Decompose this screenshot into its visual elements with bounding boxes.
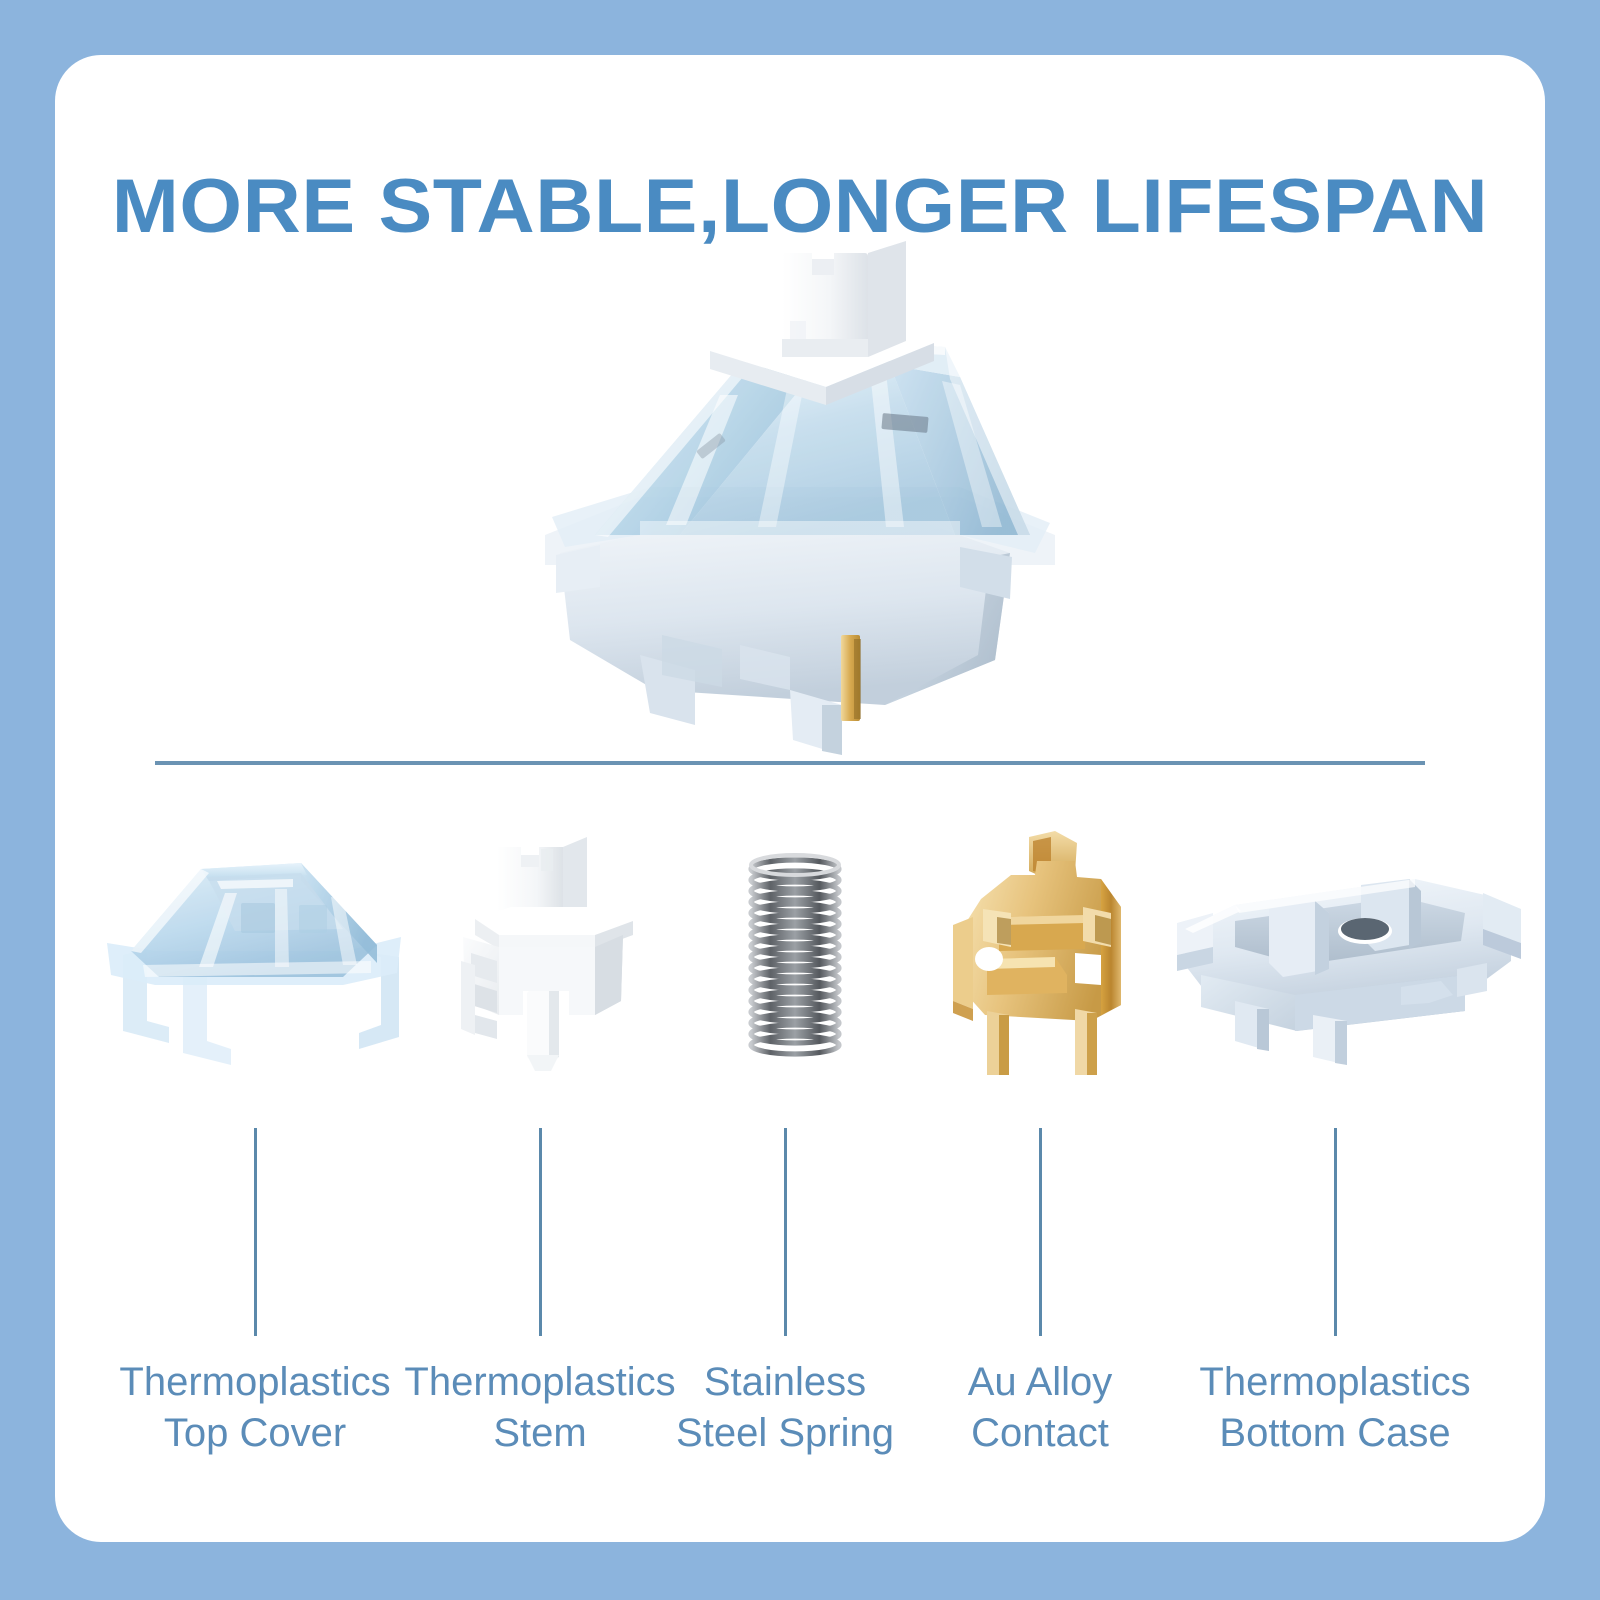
label-contact-line1: Au Alloy bbox=[968, 1360, 1113, 1404]
label-spring-line2: Steel Spring bbox=[645, 1408, 925, 1459]
label-contact-line2: Contact bbox=[905, 1408, 1175, 1459]
part-stem bbox=[435, 825, 665, 1075]
leader-line-contact bbox=[1039, 1128, 1042, 1336]
label-bottom-case: Thermoplastics Bottom Case bbox=[1165, 1357, 1505, 1459]
leader-line-top-cover bbox=[254, 1128, 257, 1336]
part-spring bbox=[705, 825, 885, 1075]
label-bottom-case-line1: Thermoplastics bbox=[1199, 1360, 1470, 1404]
hero-switch-image bbox=[490, 235, 1110, 795]
part-bottom-case bbox=[1165, 825, 1525, 1075]
hero-gold-pin bbox=[841, 635, 861, 721]
label-spring: Stainless Steel Spring bbox=[645, 1357, 925, 1459]
label-contact: Au Alloy Contact bbox=[905, 1357, 1175, 1459]
label-bottom-case-line2: Bottom Case bbox=[1165, 1408, 1505, 1459]
leader-line-spring bbox=[784, 1128, 787, 1336]
infographic-poster: MORE STABLE,LONGER LIFESPAN bbox=[0, 0, 1600, 1600]
spring-coils bbox=[751, 860, 839, 1054]
label-stem-line1: Thermoplastics bbox=[404, 1360, 675, 1404]
part-top-cover bbox=[85, 825, 425, 1075]
label-top-cover-line2: Top Cover bbox=[95, 1408, 415, 1459]
section-divider bbox=[155, 761, 1425, 765]
leader-line-bottom-case bbox=[1334, 1128, 1337, 1336]
label-spring-line1: Stainless bbox=[704, 1360, 866, 1404]
leader-line-stem bbox=[539, 1128, 542, 1336]
part-contact bbox=[925, 825, 1155, 1075]
label-top-cover-line1: Thermoplastics bbox=[119, 1360, 390, 1404]
hero-cross-stem bbox=[782, 241, 906, 357]
label-top-cover: Thermoplastics Top Cover bbox=[95, 1357, 415, 1459]
content-card: MORE STABLE,LONGER LIFESPAN bbox=[55, 55, 1545, 1542]
